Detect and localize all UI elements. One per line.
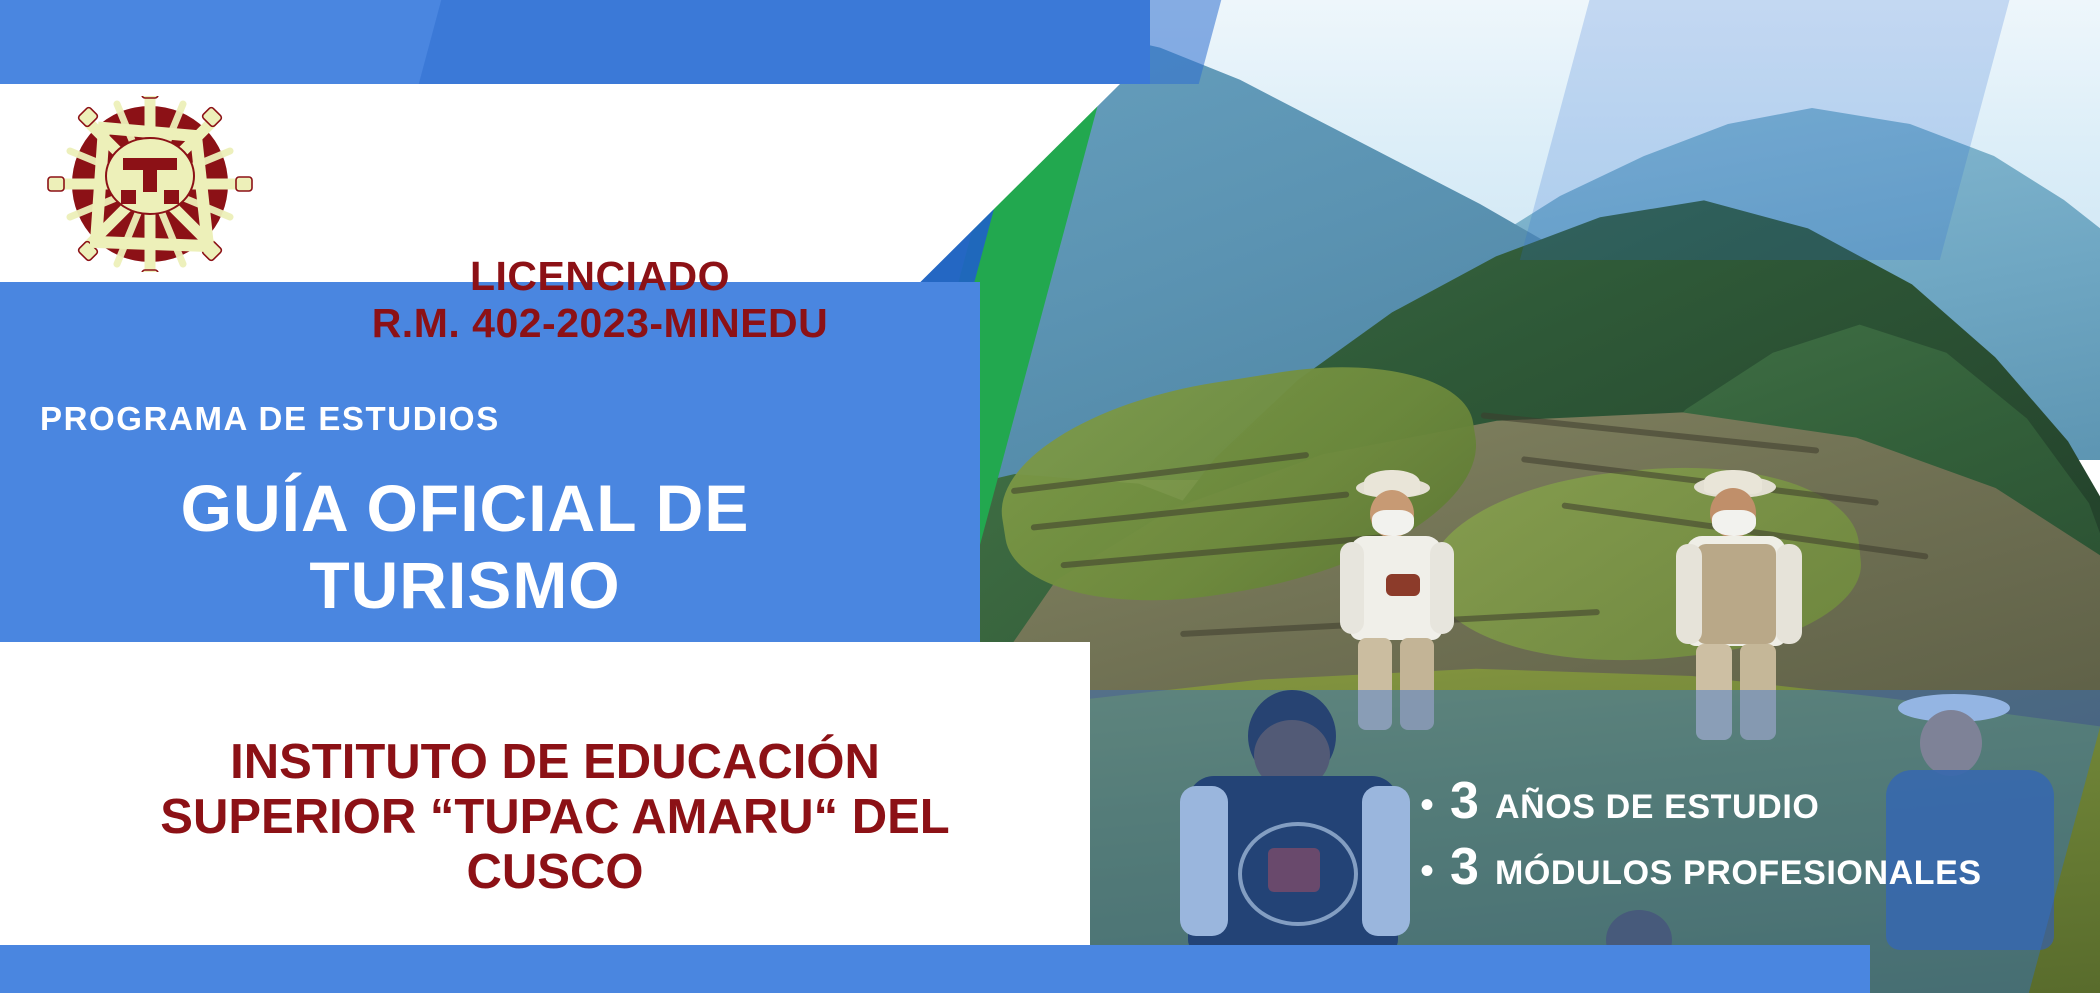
top-blue-bar-accent bbox=[419, 0, 1222, 84]
accreditation-text: LICENCIADO R.M. 402-2023-MINEDU bbox=[290, 255, 910, 346]
highlight-number: 3 bbox=[1450, 841, 1479, 893]
highlight-number: 3 bbox=[1450, 775, 1479, 827]
bullet-dot-icon: • bbox=[1420, 785, 1434, 825]
highlight-text: MÓDULOS PROFESIONALES bbox=[1495, 856, 1982, 890]
overlay-wedge-top-right bbox=[1520, 0, 2020, 260]
institution-line-3: CUSCO bbox=[30, 845, 1080, 900]
institution-line-1: INSTITUTO DE EDUCACIÓN bbox=[30, 735, 1080, 790]
bullet-dot-icon: • bbox=[1420, 851, 1434, 891]
list-item: • 3 AÑOS DE ESTUDIO bbox=[1420, 775, 2080, 827]
title-line-2: TURISMO bbox=[0, 547, 930, 624]
institution-name: INSTITUTO DE EDUCACIÓN SUPERIOR “TUPAC A… bbox=[30, 735, 1080, 900]
program-label: PROGRAMA DE ESTUDIOS bbox=[40, 400, 500, 438]
highlight-text: AÑOS DE ESTUDIO bbox=[1495, 790, 1819, 824]
accreditation-line-2: R.M. 402-2023-MINEDU bbox=[290, 302, 910, 345]
accreditation-line-1: LICENCIADO bbox=[290, 255, 910, 298]
institution-line-2: SUPERIOR “TUPAC AMARU“ DEL bbox=[30, 790, 1080, 845]
list-item: • 3 MÓDULOS PROFESIONALES bbox=[1420, 841, 2080, 893]
bottom-blue-bar bbox=[0, 945, 1870, 993]
highlights-list: • 3 AÑOS DE ESTUDIO • 3 MÓDULOS PROFESIO… bbox=[1420, 775, 2080, 907]
title-line-1: GUÍA OFICIAL DE bbox=[0, 470, 930, 547]
promotional-banner: LICENCIADO R.M. 402-2023-MINEDU PROGRAMA… bbox=[0, 0, 2100, 993]
tumi-chakana-emblem-icon bbox=[14, 96, 286, 272]
page-title: GUÍA OFICIAL DE TURISMO bbox=[0, 470, 930, 623]
